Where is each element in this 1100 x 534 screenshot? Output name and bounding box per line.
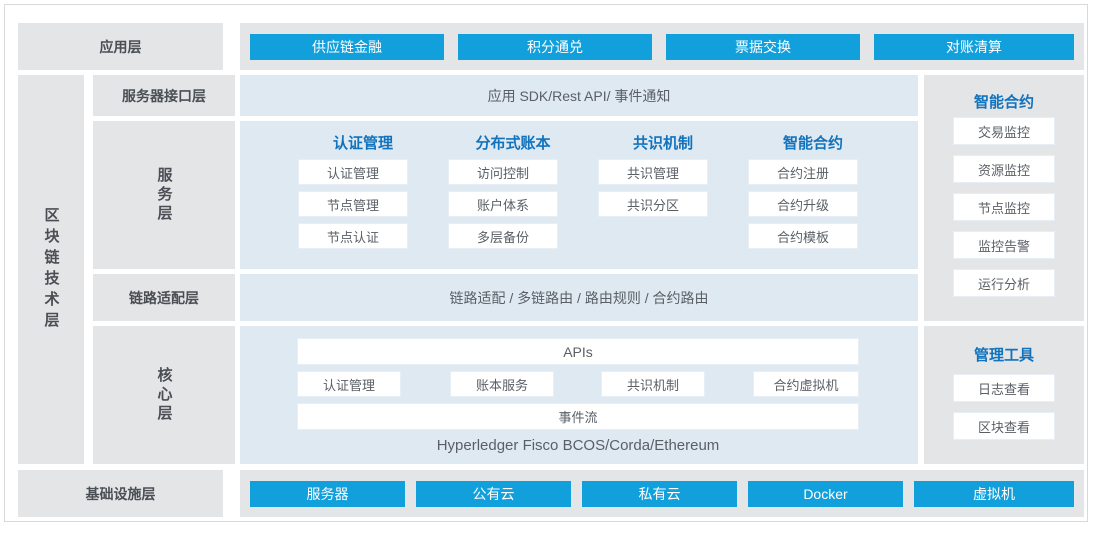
application-layer-label: 应用层	[18, 23, 223, 70]
app-item-1[interactable]: 积分通兑	[458, 34, 652, 60]
core-layer-panel: APIs 认证管理 账本服务 共识机制 合约虚拟机 事件流 Hyperledge…	[240, 326, 918, 464]
right-panel-smart-contract-item-3[interactable]: 监控告警	[953, 231, 1055, 259]
blockchain-tech-layer-text: 区块链技术层	[41, 207, 62, 333]
infra-item-0[interactable]: 服务器	[250, 481, 405, 507]
app-item-3[interactable]: 对账清算	[874, 34, 1074, 60]
service-col-1-item-2[interactable]: 多层备份	[448, 223, 558, 249]
service-layer-label: 服务层	[93, 121, 235, 269]
right-panel-management-tools-title: 管理工具	[924, 344, 1084, 365]
infra-item-2[interactable]: 私有云	[582, 481, 737, 507]
service-col-3-item-2[interactable]: 合约模板	[748, 223, 858, 249]
service-col-0-item-2[interactable]: 节点认证	[298, 223, 408, 249]
infra-item-1[interactable]: 公有云	[416, 481, 571, 507]
app-item-0[interactable]: 供应链金融	[250, 34, 444, 60]
core-apis-bar[interactable]: APIs	[297, 338, 859, 365]
core-platforms: Hyperledger Fisco BCOS/Corda/Ethereum	[297, 433, 859, 457]
core-service-0[interactable]: 认证管理	[297, 371, 401, 397]
core-layer-text: 核心层	[154, 367, 175, 424]
right-panel-smart-contract-item-2[interactable]: 节点监控	[953, 193, 1055, 221]
core-event-stream[interactable]: 事件流	[297, 403, 859, 430]
service-col-1-item-1[interactable]: 账户体系	[448, 191, 558, 217]
core-service-1[interactable]: 账本服务	[450, 371, 554, 397]
server-interface-layer-label: 服务器接口层	[93, 75, 235, 116]
right-panel-smart-contract-item-4[interactable]: 运行分析	[953, 269, 1055, 297]
blockchain-tech-layer-label: 区块链技术层	[18, 75, 84, 464]
service-col-2-item-1[interactable]: 共识分区	[598, 191, 708, 217]
infrastructure-layer-band: 服务器 公有云 私有云 Docker 虚拟机	[240, 470, 1084, 517]
link-adaptation-layer-label: 链路适配层	[93, 274, 235, 321]
right-panel-management-tools-item-1[interactable]: 区块查看	[953, 412, 1055, 440]
service-layer-panel: 认证管理 认证管理 节点管理 节点认证 分布式账本 访问控制 账户体系 多层备份…	[240, 121, 918, 269]
right-panel-smart-contract: 智能合约 交易监控 资源监控 节点监控 监控告警 运行分析	[924, 75, 1084, 321]
service-col-3-title: 智能合约	[748, 132, 878, 153]
right-panel-smart-contract-item-0[interactable]: 交易监控	[953, 117, 1055, 145]
app-item-2[interactable]: 票据交换	[666, 34, 860, 60]
core-layer-label: 核心层	[93, 326, 235, 464]
infra-item-3[interactable]: Docker	[748, 481, 903, 507]
right-panel-smart-contract-title: 智能合约	[924, 91, 1084, 112]
right-panel-management-tools: 管理工具 日志查看 区块查看	[924, 326, 1084, 464]
service-col-2-title: 共识机制	[598, 132, 728, 153]
service-col-0-title: 认证管理	[298, 132, 428, 153]
service-col-1-title: 分布式账本	[448, 132, 578, 153]
service-col-0-item-0[interactable]: 认证管理	[298, 159, 408, 185]
service-col-1-item-0[interactable]: 访问控制	[448, 159, 558, 185]
link-adaptation-layer-content: 链路适配 / 多链路由 / 路由规则 / 合约路由	[240, 274, 918, 321]
diagram-frame: 应用层 供应链金融 积分通兑 票据交换 对账清算 区块链技术层 服务器接口层 服…	[4, 4, 1088, 522]
service-col-3-item-1[interactable]: 合约升级	[748, 191, 858, 217]
right-panel-smart-contract-item-1[interactable]: 资源监控	[953, 155, 1055, 183]
service-col-0-item-1[interactable]: 节点管理	[298, 191, 408, 217]
service-col-3-item-0[interactable]: 合约注册	[748, 159, 858, 185]
service-layer-text: 服务层	[154, 167, 175, 224]
core-service-2[interactable]: 共识机制	[601, 371, 705, 397]
right-panel-management-tools-item-0[interactable]: 日志查看	[953, 374, 1055, 402]
application-layer-band: 供应链金融 积分通兑 票据交换 对账清算	[240, 23, 1084, 70]
server-interface-layer-content: 应用 SDK/Rest API/ 事件通知	[240, 75, 918, 116]
service-col-2-item-0[interactable]: 共识管理	[598, 159, 708, 185]
infra-item-4[interactable]: 虚拟机	[914, 481, 1074, 507]
core-service-3[interactable]: 合约虚拟机	[753, 371, 859, 397]
infrastructure-layer-label: 基础设施层	[18, 470, 223, 517]
